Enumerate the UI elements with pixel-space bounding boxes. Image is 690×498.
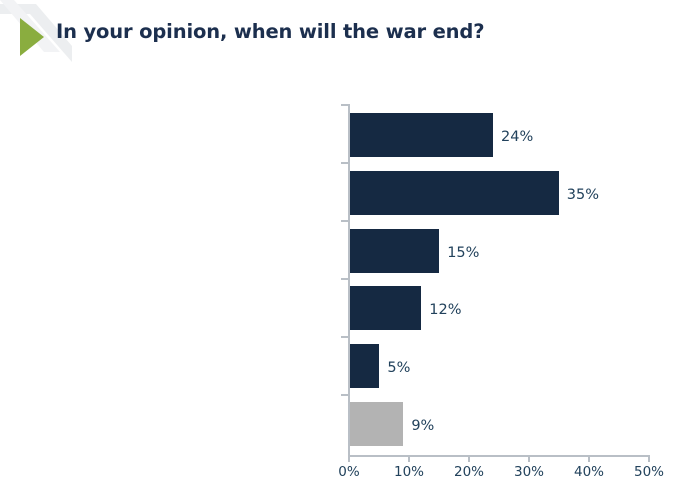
bar-chart: In less than one year In 1-2 years In 3-…: [0, 0, 690, 498]
bar-value-label: 12%: [429, 303, 461, 318]
x-axis-tick: [468, 455, 470, 462]
x-axis-tick-label: 40%: [569, 466, 609, 480]
bar-value-label: 24%: [501, 130, 533, 145]
bar-series-item: [350, 229, 440, 273]
x-axis-line: [348, 455, 649, 457]
x-axis-tick: [348, 455, 350, 462]
y-axis-tick: [341, 278, 348, 280]
y-axis-tick: [341, 336, 348, 338]
y-axis-line: [348, 104, 350, 455]
bar-series-item: [350, 286, 422, 330]
x-axis-tick-label: 50%: [629, 466, 669, 480]
y-axis-tick: [341, 394, 348, 396]
x-axis-tick-label: 20%: [449, 466, 489, 480]
y-axis-tick: [341, 104, 348, 106]
x-axis-tick: [648, 455, 650, 462]
bar-value-label: 5%: [387, 361, 410, 376]
y-axis-tick: [341, 162, 348, 164]
bar-value-label: 9%: [411, 419, 434, 434]
x-axis-tick-label: 10%: [389, 466, 429, 480]
x-axis-tick: [588, 455, 590, 462]
bar-series-item: [350, 344, 380, 388]
y-axis-tick: [341, 220, 348, 222]
x-axis-tick: [408, 455, 410, 462]
bar-series-item: [350, 113, 494, 157]
category-axis-labels: In less than one year In 1-2 years In 3-…: [0, 0, 343, 498]
bar-series-item: [350, 402, 404, 446]
x-axis-tick-label: 0%: [329, 466, 369, 480]
bar-value-label: 35%: [567, 188, 599, 203]
bar-series-item: [350, 171, 559, 215]
x-axis-tick: [528, 455, 530, 462]
bar-value-label: 15%: [447, 246, 479, 261]
x-axis-tick-label: 30%: [509, 466, 549, 480]
